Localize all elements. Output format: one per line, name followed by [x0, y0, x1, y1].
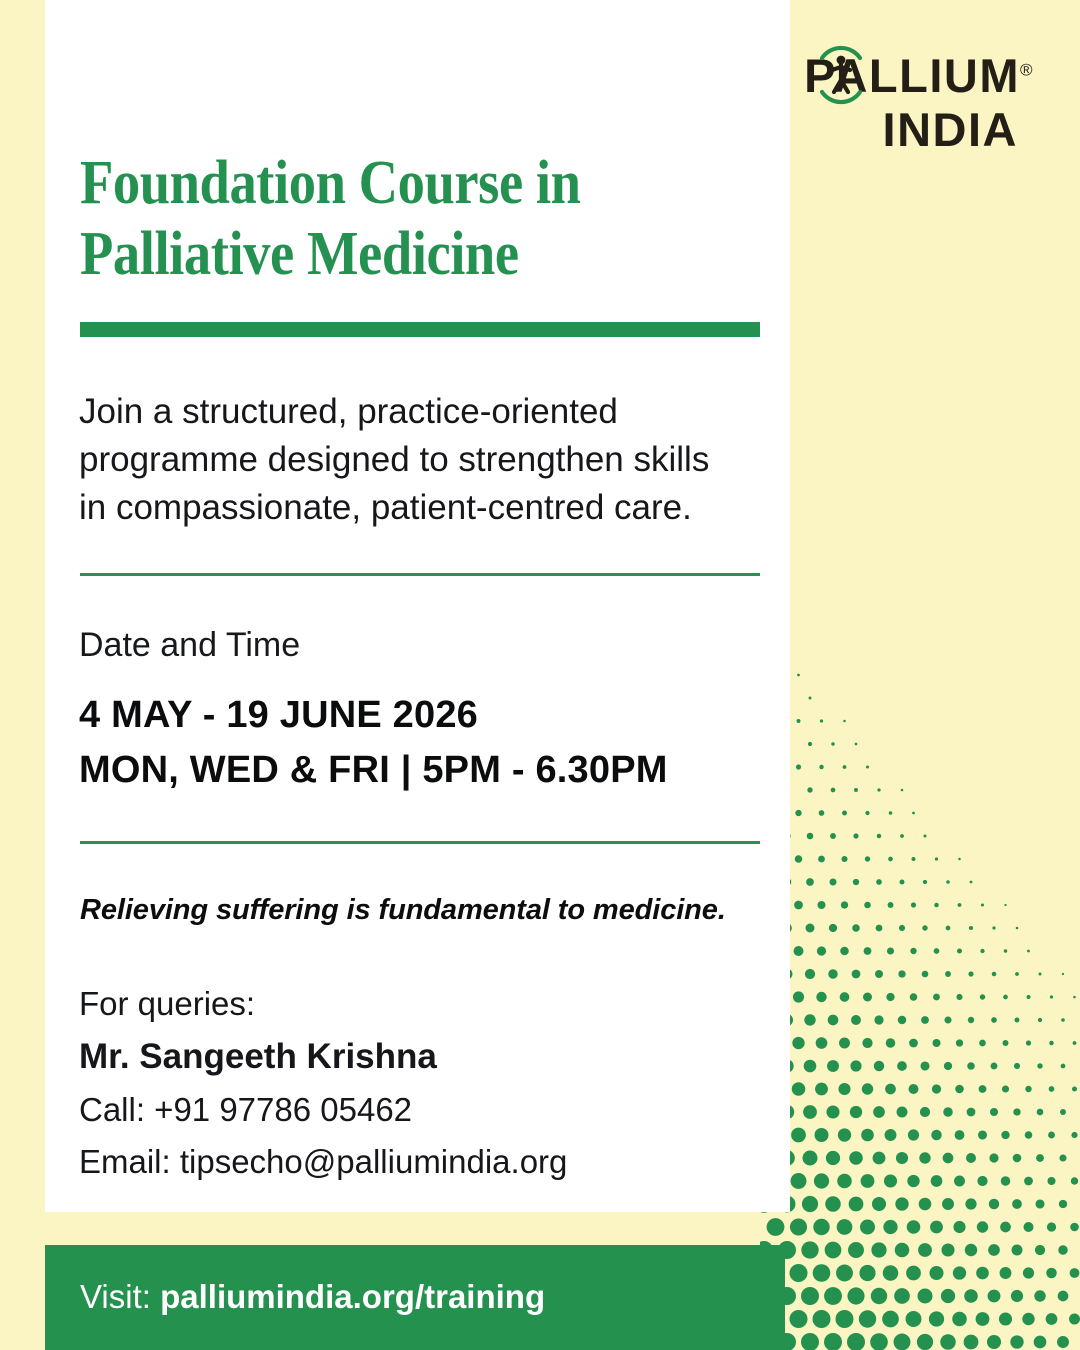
- pallium-india-logo: PALLIUM® INDIA: [774, 52, 1034, 152]
- title-underline-bar: [80, 322, 760, 337]
- poster-canvas: PALLIUM® INDIA Foundation Course in Pall…: [0, 0, 1080, 1350]
- datetime-values: 4 MAY - 19 JUNE 2026 MON, WED & FRI | 5P…: [79, 688, 779, 798]
- contact-person-name: Mr. Sangeeth Krishna: [79, 1031, 779, 1084]
- description-line-3: in compassionate, patient-centred care.: [79, 484, 769, 532]
- datetime-dates: 4 MAY - 19 JUNE 2026: [79, 688, 779, 743]
- pallium-circle-figure-icon: [810, 44, 872, 106]
- visit-banner-text[interactable]: Visit: palliumindia.org/training: [80, 1278, 545, 1316]
- contact-phone[interactable]: Call: +91 97786 05462: [79, 1084, 779, 1136]
- logo-text-india: INDIA: [774, 106, 1034, 153]
- datetime-label: Date and Time: [79, 626, 300, 665]
- title-line-1: Foundation Course in: [80, 148, 678, 219]
- divider-below-datetime: [80, 841, 760, 844]
- description-line-1: Join a structured, practice-oriented: [79, 388, 769, 436]
- queries-block: For queries: Mr. Sangeeth Krishna Call: …: [79, 978, 779, 1188]
- registered-trademark-icon: ®: [1020, 60, 1034, 79]
- visit-prefix: Visit:: [80, 1278, 160, 1315]
- logo-wordmark-line1: PALLIUM®: [774, 52, 1034, 102]
- tagline: Relieving suffering is fundamental to me…: [80, 894, 780, 927]
- visit-banner: Visit: palliumindia.org/training: [45, 1245, 785, 1350]
- page-title: Foundation Course in Palliative Medicine: [80, 148, 678, 289]
- contact-email[interactable]: Email: tipsecho@palliumindia.org: [79, 1136, 779, 1188]
- divider-above-datetime: [80, 573, 760, 576]
- visit-url[interactable]: palliumindia.org/training: [160, 1278, 545, 1315]
- halftone-dot-pattern: [760, 600, 1080, 1350]
- datetime-days-time: MON, WED & FRI | 5PM - 6.30PM: [79, 743, 779, 798]
- queries-label: For queries:: [79, 978, 779, 1029]
- description-line-2: programme designed to strengthen skills: [79, 436, 769, 484]
- course-description: Join a structured, practice-oriented pro…: [79, 388, 769, 532]
- title-line-2: Palliative Medicine: [80, 219, 678, 290]
